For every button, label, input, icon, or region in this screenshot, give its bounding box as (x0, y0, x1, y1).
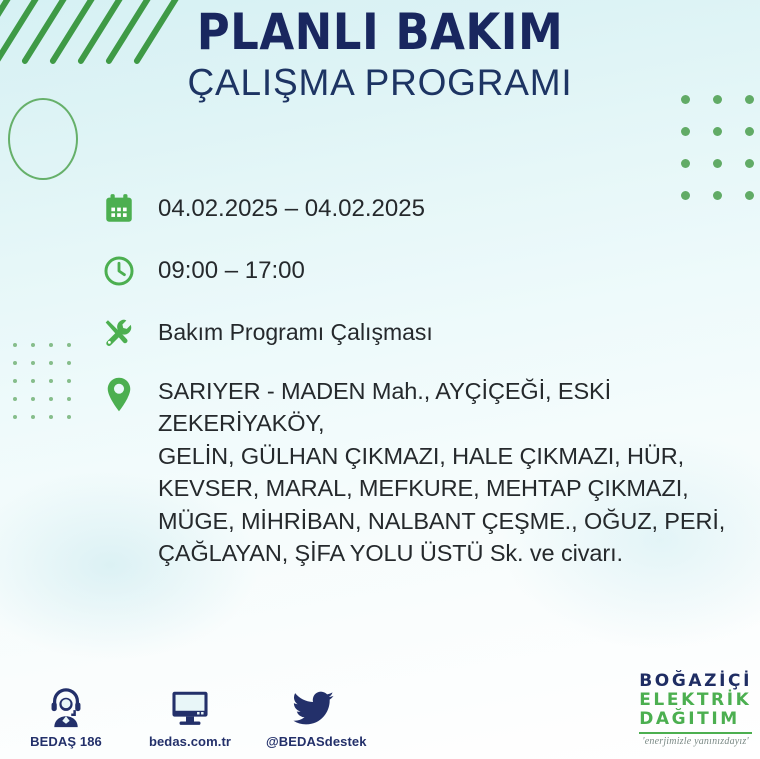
location-line: SARIYER - MADEN Mah., AYÇİÇEĞİ, ESKİ ZEK… (158, 378, 611, 436)
clock-icon (96, 248, 142, 294)
contact-label: @BEDASdestek (266, 734, 362, 749)
tools-icon (96, 310, 142, 356)
contact-phone[interactable]: BEDAŞ 186 (18, 682, 114, 749)
time-row: 09:00 – 17:00 (96, 248, 760, 294)
contact-label: bedas.com.tr (142, 734, 238, 749)
date-row: 04.02.2025 – 04.02.2025 (96, 186, 760, 232)
logo-divider (639, 732, 752, 734)
logo-line-dagitim: DAĞITIM (639, 710, 752, 729)
dot-grid-left-decoration (6, 336, 78, 426)
poster-footer: BEDAŞ 186 bedas.com.tr (0, 659, 760, 759)
monitor-icon (142, 682, 238, 728)
page-subtitle: ÇALIŞMA PROGRAMI (0, 63, 760, 104)
date-range-text: 04.02.2025 – 04.02.2025 (158, 186, 425, 225)
headset-operator-icon (18, 682, 114, 728)
location-text: SARIYER - MADEN Mah., AYÇİÇEĞİ, ESKİ ZEK… (158, 372, 760, 570)
contact-list: BEDAŞ 186 bedas.com.tr (18, 682, 362, 749)
poster-header: PLANLI BAKIM ÇALIŞMA PROGRAMI (0, 0, 760, 103)
planned-maintenance-poster: PLANLI BAKIM ÇALIŞMA PROGRAMI 04.02.2025… (0, 0, 760, 759)
location-line: ÇAĞLAYAN, ŞİFA YOLU ÜSTÜ Sk. ve civarı. (158, 540, 623, 566)
contact-website[interactable]: bedas.com.tr (142, 682, 238, 749)
bedas-logo: BOĞAZİÇİ ELEKTRİK DAĞITIM 'enerjimizle y… (639, 672, 752, 747)
contact-twitter[interactable]: @BEDASdestek (266, 682, 362, 749)
logo-tagline: 'enerjimizle yanınızdayız' (639, 736, 752, 747)
location-line: MÜGE, MİHRİBAN, NALBANT ÇEŞME., OĞUZ, PE… (158, 508, 725, 534)
time-range-text: 09:00 – 17:00 (158, 248, 305, 287)
maintenance-details: 04.02.2025 – 04.02.2025 09:00 – 17:00 Ba… (96, 186, 760, 570)
map-pin-icon (96, 372, 142, 418)
twitter-bird-icon (266, 682, 362, 728)
contact-label: BEDAŞ 186 (18, 734, 114, 749)
task-row: Bakım Programı Çalışması (96, 310, 760, 356)
calendar-icon (96, 186, 142, 232)
location-row: SARIYER - MADEN Mah., AYÇİÇEĞİ, ESKİ ZEK… (96, 372, 760, 570)
logo-line-bogazici: BOĞAZİÇİ (639, 672, 752, 691)
task-text: Bakım Programı Çalışması (158, 310, 433, 347)
circle-outline-decoration (8, 98, 78, 180)
location-line: GELİN, GÜLHAN ÇIKMAZI, HALE ÇIKMAZI, HÜR… (158, 443, 684, 469)
location-line: KEVSER, MARAL, MEFKURE, MEHTAP ÇIKMAZI, (158, 475, 689, 501)
logo-line-elektrik: ELEKTRİK (639, 691, 752, 710)
page-title: PLANLI BAKIM (0, 6, 760, 59)
